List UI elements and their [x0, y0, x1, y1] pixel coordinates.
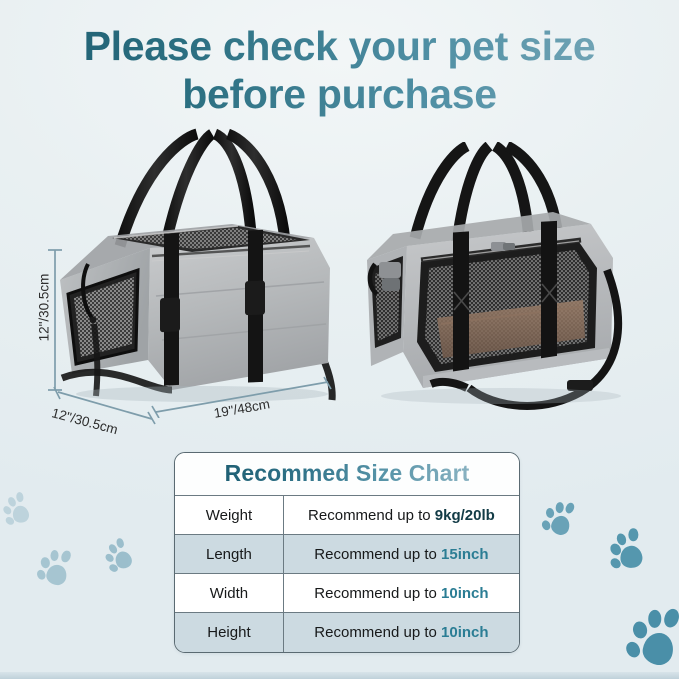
size-chart-row-key: Width	[175, 574, 283, 613]
dimension-line-depth	[52, 386, 162, 431]
headline-line-1: Please check your pet size	[0, 22, 679, 70]
size-chart-value-number: 9kg/20lb	[435, 507, 495, 524]
size-chart-value-prefix: Recommend up to	[314, 624, 441, 641]
size-chart-row-value: Recommend up to 9kg/20lb	[283, 496, 519, 535]
headline-line-2: before purchase	[0, 70, 679, 118]
paw-toe	[60, 549, 72, 563]
paw-toe	[624, 639, 643, 659]
paw-print-icon	[539, 496, 585, 542]
paw-print-icon	[98, 532, 143, 577]
size-chart-value-prefix: Recommend up to	[308, 507, 435, 524]
paw-print-icon	[0, 488, 40, 531]
size-chart-value-number: 10inch	[441, 585, 489, 602]
size-chart-row: WeightRecommend up to 9kg/20lb	[175, 496, 519, 535]
size-chart-row-value: Recommend up to 10inch	[283, 613, 519, 652]
size-chart-row-key: Length	[175, 535, 283, 574]
size-chart-row: HeightRecommend up to 10inch	[175, 613, 519, 652]
paw-print-icon	[623, 601, 679, 675]
size-chart-table: WeightRecommend up to 9kg/20lbLengthReco…	[175, 495, 519, 652]
paw-toe	[104, 552, 116, 564]
size-chart-value-prefix: Recommend up to	[314, 585, 441, 602]
size-chart: Recommed Size Chart WeightRecommend up t…	[174, 452, 520, 653]
size-chart-value-number: 15inch	[441, 546, 489, 563]
paw-pad	[549, 514, 571, 537]
pet-carrier-mesh-side-view	[345, 142, 645, 417]
paw-toe	[540, 519, 551, 531]
paw-print-icon	[605, 525, 656, 576]
paw-toe	[555, 502, 564, 513]
paw-toe	[631, 620, 648, 640]
size-chart-row-value: Recommend up to 10inch	[283, 574, 519, 613]
size-chart-row-value: Recommend up to 15inch	[283, 535, 519, 574]
paw-pad	[619, 545, 644, 570]
paw-toe	[35, 568, 47, 581]
paw-toe	[648, 610, 662, 628]
paw-toe	[662, 607, 679, 629]
size-chart-title-text: Recommed Size Chart	[225, 460, 470, 486]
infographic-canvas: Please check your pet size before purcha…	[0, 0, 679, 679]
pet-carrier-angled-view	[52, 128, 352, 403]
paw-toe	[628, 528, 638, 541]
paw-toe	[15, 491, 24, 502]
paw-toe	[564, 501, 576, 514]
headline: Please check your pet size before purcha…	[0, 22, 679, 119]
paw-toe	[51, 550, 60, 562]
dimension-line-length	[150, 376, 336, 423]
size-chart-row: WidthRecommend up to 10inch	[175, 574, 519, 613]
size-chart-row-key: Height	[175, 613, 283, 652]
dimension-line-height	[46, 246, 64, 399]
size-chart-row: LengthRecommend up to 15inch	[175, 535, 519, 574]
size-chart-title: Recommed Size Chart	[175, 453, 519, 495]
size-chart-value-number: 10inch	[441, 624, 489, 641]
paw-print-icon	[34, 544, 81, 591]
size-chart-row-key: Weight	[175, 496, 283, 535]
size-chart-value-prefix: Recommend up to	[314, 546, 441, 563]
